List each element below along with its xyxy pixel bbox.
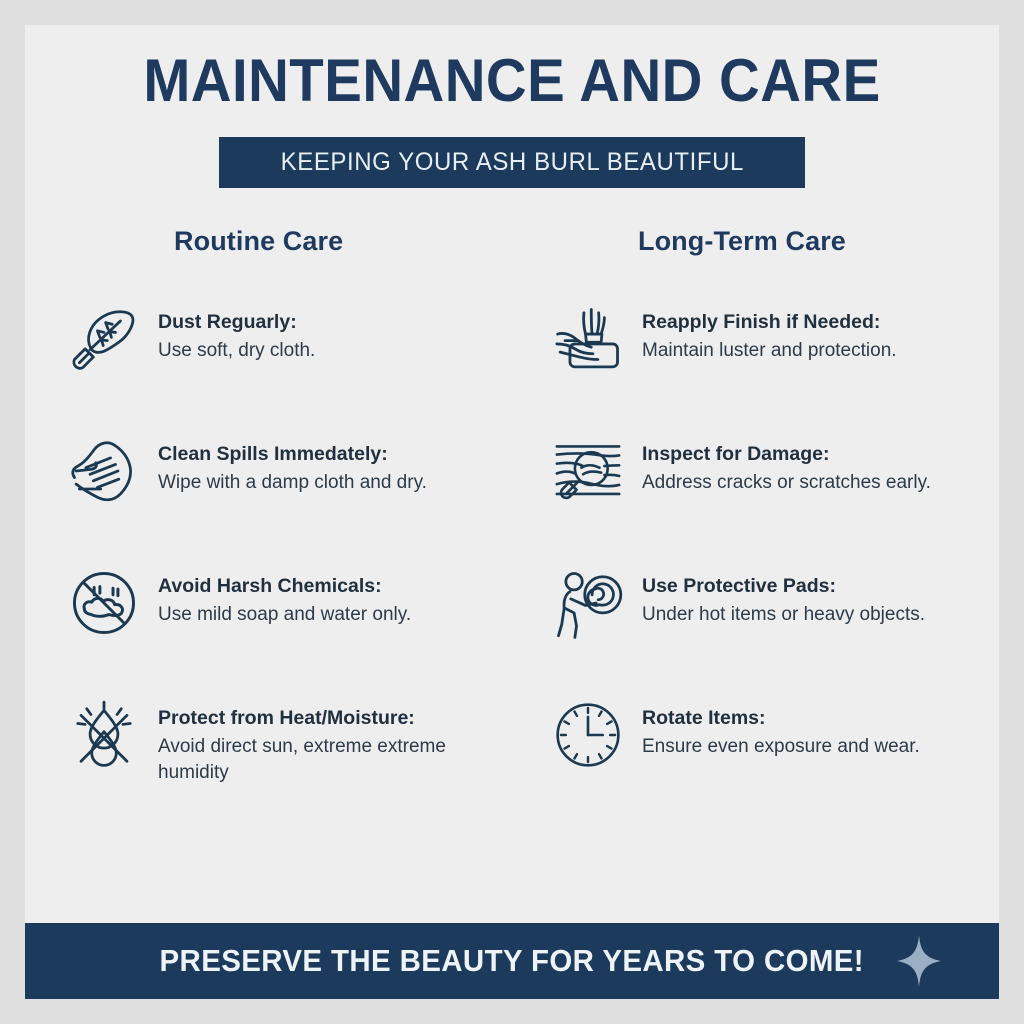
sparkle-icon: [897, 935, 941, 987]
list-item-text: Use Protective Pads: Under hot items or …: [642, 555, 999, 628]
hand-applying-finish-icon: [534, 291, 642, 387]
list-item-desc: Under hot items or heavy objects.: [642, 602, 962, 628]
list-item-desc: Wipe with a damp cloth and dry.: [158, 470, 488, 496]
person-carrying-pad-icon: [534, 555, 642, 651]
list-item-desc: Ensure even exposure and wear.: [642, 734, 962, 760]
subtitle-text: KEEPING YOUR ASH BURL BEAUTIFUL: [280, 148, 743, 177]
list-item-title: Clean Spills Immedately:: [158, 441, 512, 467]
clock-icon: [534, 687, 642, 783]
list-item-title: Dust Reguarly:: [158, 309, 512, 335]
list-item: Dust Reguarly: Use soft, dry cloth.: [50, 291, 512, 387]
list-item: Reapply Finish if Needed: Maintain luste…: [534, 291, 999, 387]
page-title: MAINTENANCE AND CARE: [54, 51, 970, 111]
list-item: Inspect for Damage: Address cracks or sc…: [534, 423, 999, 519]
list-item-desc: Use soft, dry cloth.: [158, 338, 488, 364]
list-item-title: Reapply Finish if Needed:: [642, 309, 999, 335]
feather-duster-icon: [50, 291, 158, 387]
list-item-text: Avoid Harsh Chemicals: Use mild soap and…: [158, 555, 512, 628]
list-item-title: Avoid Harsh Chemicals:: [158, 573, 512, 599]
column-heading-long-term: Long-Term Care: [638, 226, 999, 257]
no-chemicals-icon: [50, 555, 158, 651]
list-item-title: Use Protective Pads:: [642, 573, 999, 599]
list-item-title: Protect from Heat/Moisture:: [158, 705, 512, 731]
list-item: Clean Spills Immedately: Wipe with a dam…: [50, 423, 512, 519]
column-routine-care: Routine Care Dust Reguarly:: [25, 226, 512, 923]
list-item-desc: Avoid direct sun, extreme extreme humidi…: [158, 734, 488, 786]
list-item-desc: Use mild soap and water only.: [158, 602, 488, 628]
list-item-desc: Maintain luster and protection.: [642, 338, 962, 364]
subtitle-banner: KEEPING YOUR ASH BURL BEAUTIFUL: [219, 137, 805, 188]
list-item-text: Protect from Heat/Moisture: Avoid direct…: [158, 687, 512, 786]
column-long-term-care: Long-Term Care: [512, 226, 999, 923]
column-heading-routine: Routine Care: [174, 226, 512, 257]
list-item-text: Reapply Finish if Needed: Maintain luste…: [642, 291, 999, 364]
list-item-text: Clean Spills Immedately: Wipe with a dam…: [158, 423, 512, 496]
footer-banner: PRESERVE THE BEAUTY FOR YEARS TO COME!: [25, 923, 999, 999]
content-columns: Routine Care Dust Reguarly:: [25, 188, 999, 923]
list-item-desc: Address cracks or scratches early.: [642, 470, 962, 496]
list-item-title: Inspect for Damage:: [642, 441, 999, 467]
no-heat-moisture-icon: [50, 687, 158, 783]
list-item: Rotate Items: Ensure even exposure and w…: [534, 687, 999, 783]
poster-header: MAINTENANCE AND CARE KEEPING YOUR ASH BU…: [25, 25, 999, 188]
list-item-text: Dust Reguarly: Use soft, dry cloth.: [158, 291, 512, 364]
list-item-text: Rotate Items: Ensure even exposure and w…: [642, 687, 999, 760]
list-item-title: Rotate Items:: [642, 705, 999, 731]
list-item: Protect from Heat/Moisture: Avoid direct…: [50, 687, 512, 786]
hand-wiping-cloth-icon: [50, 423, 158, 519]
footer-text: PRESERVE THE BEAUTY FOR YEARS TO COME!: [160, 943, 864, 979]
list-item: Avoid Harsh Chemicals: Use mild soap and…: [50, 555, 512, 651]
magnifier-wood-grain-icon: [534, 423, 642, 519]
list-item: Use Protective Pads: Under hot items or …: [534, 555, 999, 651]
list-item-text: Inspect for Damage: Address cracks or sc…: [642, 423, 999, 496]
poster-container: MAINTENANCE AND CARE KEEPING YOUR ASH BU…: [25, 25, 999, 999]
